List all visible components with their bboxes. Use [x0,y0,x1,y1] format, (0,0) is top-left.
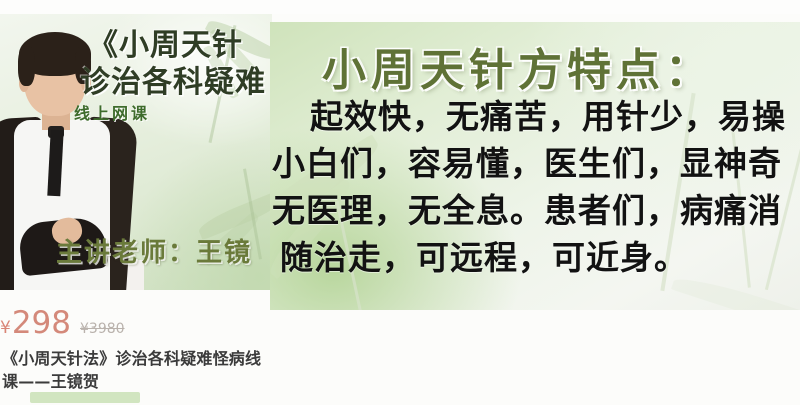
thumbnail-teacher-label: 主讲老师：王镜 [56,232,272,269]
feature-panel: 小周天针方特点： 起效快，无痛苦，用针少，易操 小白们，容易懂，医生们，显神奇 … [270,22,800,310]
thumbnail-title-line-1: 《小周天针 [88,28,243,63]
feature-line: 起效快，无痛苦，用针少，易操 [270,100,800,133]
screenshot-stage: 《小周天针 诊治各科疑难 线上网课 主讲老师：王镜 ¥ 298 ¥3980 《小… [0,0,800,405]
feature-line: 小白们，容易懂，医生们，显神奇 [270,147,800,180]
top-white-strip [0,0,800,14]
bottom-green-chip [30,392,140,403]
hair-side-shape [18,46,35,86]
thumbnail-title-line-2: 诊治各科疑难 [80,65,272,102]
feature-lines: 起效快，无痛苦，用针少，易操 小白们，容易懂，医生们，显神奇 无医理，无全息。患… [270,100,800,288]
current-price: 298 [12,308,71,339]
feature-heading: 小周天针方特点： [322,34,714,98]
thumbnail-title: 《小周天针 诊治各科疑难 [88,28,272,101]
online-course-badge: 线上网课 [74,100,150,124]
currency-symbol: ¥ [0,318,11,338]
feature-line: 无医理，无全息。患者们，病痛消 [270,194,800,227]
product-caption[interactable]: 《小周天针法》诊治各科疑难怪病线课——王镜贺 [2,348,264,393]
product-thumbnail-card[interactable]: 《小周天针 诊治各科疑难 线上网课 主讲老师：王镜 [0,14,272,290]
feature-line: 随治走，可远程，可近身。 [270,241,800,274]
original-price: ¥3980 [80,321,125,337]
price-row: ¥ 298 ¥3980 [0,308,125,340]
